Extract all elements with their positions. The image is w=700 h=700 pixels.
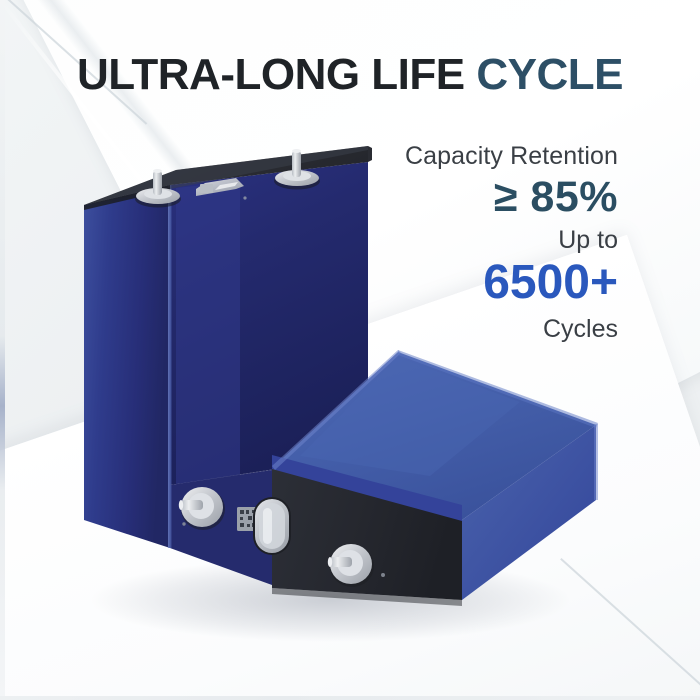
page-title: ULTRA-LONG LIFE CYCLE <box>0 50 700 100</box>
upright-cell-vertical-edge <box>168 185 172 548</box>
page-title-primary: ULTRA-LONG LIFE <box>77 50 476 99</box>
upright-cell-left-face <box>84 185 170 548</box>
upright-terminal-post-left <box>153 171 162 195</box>
capacity-retention-value: ≥ 85% <box>318 170 618 225</box>
flat-cell-pin-dot-right <box>381 573 385 577</box>
spec-callout-block: Capacity Retention ≥ 85% Up to 6500+ Cyc… <box>318 142 618 345</box>
flat-terminal-post-right <box>330 557 352 567</box>
upright-cell-front-highlight <box>176 181 240 484</box>
up-to-label: Up to <box>318 227 618 255</box>
upright-cell-pin-dot <box>243 196 246 199</box>
upright-cell-qr-label <box>200 184 213 193</box>
flat-terminal-post-left <box>181 500 203 510</box>
battery-cells-illustration <box>0 0 700 700</box>
flat-cell-right-corner-highlight <box>594 424 598 500</box>
cycle-count-value: 6500+ <box>318 255 618 311</box>
cycles-unit-label: Cycles <box>318 314 618 345</box>
page-title-accent: CYCLE <box>476 50 623 99</box>
upright-terminal-post-right <box>292 151 301 177</box>
flat-cell-pin-dot-left <box>182 522 185 525</box>
capacity-retention-label: Capacity Retention <box>318 142 618 170</box>
banner-canvas: ULTRA-LONG LIFE CYCLE Capacity Retention… <box>0 0 700 700</box>
